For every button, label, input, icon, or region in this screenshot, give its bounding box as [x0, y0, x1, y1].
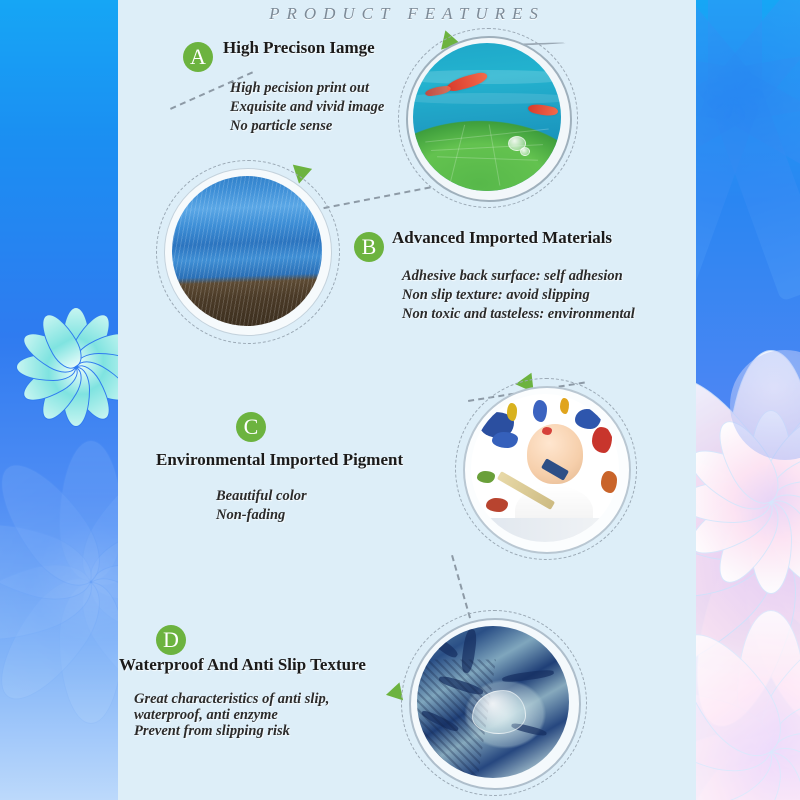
- decorative-flower-small-left: [10, 300, 124, 430]
- feature-a-line-2: Exquisite and vivid image: [230, 98, 384, 117]
- circle-a-photo: [413, 43, 561, 191]
- feature-a-line-1: High pecision print out: [230, 79, 369, 98]
- badge-letter-b: B: [354, 232, 384, 262]
- feature-d-line-3: Prevent from slipping risk: [134, 722, 290, 741]
- decorative-burst-top-right: [692, 0, 800, 310]
- feature-d-heading: Waterproof And Anti Slip Texture: [119, 655, 366, 675]
- decorative-flower-large-left: [0, 430, 124, 730]
- feature-c-line-2: Non-fading: [216, 506, 285, 525]
- badge-letter-a: A: [183, 42, 213, 72]
- circle-d-photo: [417, 626, 569, 778]
- circle-c-photo: [471, 394, 619, 542]
- circle-b-photo: [172, 176, 322, 326]
- background-right-panel: [692, 0, 800, 800]
- koi-fish-3: [528, 102, 559, 118]
- feature-b-heading: Advanced Imported Materials: [392, 228, 612, 248]
- badge-letter-c: C: [236, 412, 266, 442]
- badge-letter-d: D: [156, 625, 186, 655]
- feature-b-line-2: Non slip texture: avoid slipping: [402, 286, 590, 305]
- product-features-infographic: PRODUCT FEATURES: [0, 0, 800, 800]
- page-title: PRODUCT FEATURES: [118, 4, 696, 24]
- feature-c-line-1: Beautiful color: [216, 487, 307, 506]
- feature-a-line-3: No particle sense: [230, 117, 332, 136]
- feature-b-line-3: Non toxic and tasteless: environmental: [402, 305, 635, 324]
- background-left-panel: [0, 0, 124, 800]
- feature-a-heading: High Precison Iamge: [223, 38, 375, 58]
- decorative-flower-bottom-right: [692, 600, 800, 800]
- feature-c-heading: Environmental Imported Pigment: [156, 450, 403, 470]
- feature-b-line-1: Adhesive back surface: self adhesion: [402, 267, 623, 286]
- content-panel: PRODUCT FEATURES: [118, 0, 696, 800]
